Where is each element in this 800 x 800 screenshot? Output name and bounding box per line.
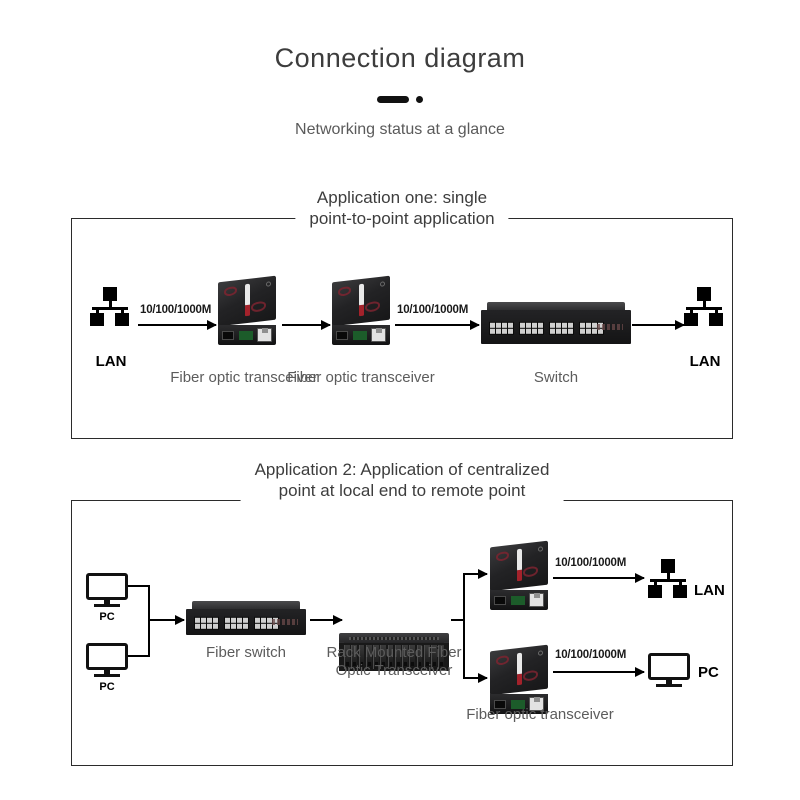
branch-vertical: [463, 573, 465, 679]
converter-top-shell: [490, 645, 548, 696]
switch-chassis-body: [481, 310, 631, 344]
converter-label-strip: [517, 549, 522, 572]
media-converter-device: [214, 279, 278, 345]
page-header: Connection diagram Networking status at …: [0, 0, 800, 139]
lan-left-label: LAN: [91, 353, 131, 370]
speed-label-bottom: 10/100/1000M: [555, 649, 626, 661]
converter-decal-b: [365, 301, 380, 313]
converter-label-strip-red: [517, 674, 522, 686]
pc-monitor-icon: [86, 573, 128, 609]
ornament-dot: [416, 96, 423, 103]
lan-icon-left-wrapper: [90, 287, 130, 325]
switch-port-group: [489, 322, 514, 335]
lan-icon-node-left: [90, 313, 104, 326]
pc-monitor-icon: [648, 653, 690, 689]
pc-icon-base: [94, 604, 120, 607]
lan-network-icon: [90, 287, 130, 325]
converter-decal-b: [523, 566, 538, 578]
pc-icon-base: [656, 684, 682, 687]
converter-label-strip: [359, 284, 364, 307]
switch-port-bank: [194, 617, 279, 630]
ornament-dash: [377, 96, 409, 103]
pc-icon-base: [94, 674, 120, 677]
lan-icon-right-wrapper: [684, 287, 724, 325]
application-one-heading: Application one: single point-to-point a…: [295, 187, 508, 229]
application-two-heading: Application 2: Application of centralize…: [241, 459, 564, 501]
pc-bottom-connector: [128, 655, 150, 657]
lan-label-right: LAN: [694, 582, 725, 599]
lan-icon-node-right: [709, 313, 723, 326]
arrow-pcs-to-fiber-switch: [148, 619, 184, 621]
switch-caption: Switch: [476, 369, 636, 387]
application-one-panel: Application one: single point-to-point a…: [71, 218, 733, 439]
switch-brand-mark: [272, 619, 298, 625]
converter-front-face: [218, 325, 276, 345]
switch-port-group: [224, 617, 249, 630]
converter-top-shell: [332, 276, 390, 327]
converter-label-strip-red: [359, 305, 364, 317]
media-converter-device: [328, 279, 392, 345]
pc-top-label: PC: [86, 611, 128, 623]
lan-icon-node-left: [648, 585, 662, 598]
lan-icon-top-node: [661, 559, 675, 573]
application-two-panel: Application 2: Application of centralize…: [71, 500, 733, 766]
page-subtitle: Networking status at a glance: [0, 121, 800, 139]
media-converter-device: [486, 648, 550, 714]
converter-front-face: [332, 325, 390, 345]
converter-decal-a: [496, 655, 509, 665]
converter-led-strip: [511, 596, 525, 605]
title-ornament: [0, 96, 800, 103]
converter-label-strip-red: [245, 305, 250, 317]
converter-label-strip: [517, 653, 522, 676]
remote-transceiver-caption: Fiber optic transceiver: [440, 706, 640, 724]
media-converter-device: [486, 544, 550, 610]
pc-icon-screen: [86, 643, 128, 670]
lan-icon-node-right: [673, 585, 687, 598]
converter-decal-a: [338, 286, 351, 296]
converter-top-shell: [218, 276, 276, 327]
switch-port-group: [549, 322, 574, 335]
network-switch-device: [481, 302, 631, 344]
converter-rj45-port: [371, 328, 386, 342]
arrow-switch-to-lan: [632, 324, 684, 326]
arrow-lan-to-converter-one: [138, 324, 216, 326]
arrow-branch-to-converter-bottom: [463, 677, 487, 679]
switch-chassis-body: [186, 609, 306, 635]
arrow-converter-bottom-to-pc: [553, 671, 644, 673]
arrow-converter-one-to-two: [282, 324, 330, 326]
fiber-optic-transceiver-two: [328, 279, 392, 345]
arrow-switch-to-chassis: [310, 619, 342, 621]
arrow-branch-to-converter-top: [463, 573, 487, 575]
fiber-optic-transceiver-one: [214, 279, 278, 345]
converter-led-strip: [353, 331, 367, 340]
switch-port-group: [519, 322, 544, 335]
lan-icon-top-node: [697, 287, 711, 301]
converter-label-strip-red: [517, 570, 522, 582]
speed-label-top: 10/100/1000M: [555, 557, 626, 569]
converter-fiber-port: [494, 596, 506, 605]
remote-transceiver-bottom: [486, 648, 550, 714]
pc-bracket-vertical: [148, 585, 150, 657]
lan-right-label: LAN: [685, 353, 725, 370]
fiber-switch-caption: Fiber switch: [176, 644, 316, 662]
converter-screw: [538, 650, 543, 656]
speed-label-one: 10/100/1000M: [140, 304, 211, 316]
pc-right-label: PC: [698, 664, 719, 681]
arrow-converter-top-to-lan: [553, 577, 644, 579]
converter-decal-b: [523, 670, 538, 682]
converter-screw: [380, 281, 385, 287]
arrow-converter-two-to-switch: [395, 324, 479, 326]
lan-icon-node-left: [684, 313, 698, 326]
converter-screw: [266, 281, 271, 287]
pc-top-connector: [128, 585, 150, 587]
converter-rj45-port: [529, 593, 544, 607]
converter-led-strip: [239, 331, 253, 340]
converter-decal-a: [496, 551, 509, 561]
lan-icon-node-right: [115, 313, 129, 326]
page-title: Connection diagram: [0, 43, 800, 74]
lan-icon-top-node: [103, 287, 117, 301]
pc-bottom-label: PC: [86, 681, 128, 693]
pc-icon-screen: [648, 653, 690, 680]
switch-port-bank: [489, 322, 604, 335]
converter-front-face: [490, 590, 548, 610]
pc-bottom-wrapper: [86, 643, 128, 679]
lan-icon-wrapper: [648, 559, 688, 597]
converter-fiber-port: [222, 331, 234, 340]
lan-network-icon: [648, 559, 688, 597]
remote-transceiver-top: [486, 544, 550, 610]
converter-rj45-port: [257, 328, 272, 342]
rack-chassis-caption: Rack Mounted Fiber Optic Transceiver: [304, 644, 484, 680]
pc-top-wrapper: [86, 573, 128, 609]
fiber-optic-transceiver-two-caption: Fiber optic transceiver: [261, 369, 461, 387]
converter-decal-a: [224, 286, 237, 296]
converter-top-shell: [490, 541, 548, 592]
converter-decal-b: [251, 301, 266, 313]
pc-icon-screen: [86, 573, 128, 600]
pc-right-wrapper: [648, 653, 690, 689]
lan-network-icon: [684, 287, 724, 325]
switch-port-group: [194, 617, 219, 630]
converter-label-strip: [245, 284, 250, 307]
fiber-switch-device: [186, 601, 306, 635]
switch-brand-mark: [597, 324, 623, 330]
speed-label-two: 10/100/1000M: [397, 304, 468, 316]
converter-fiber-port: [336, 331, 348, 340]
converter-screw: [538, 546, 543, 552]
pc-monitor-icon: [86, 643, 128, 679]
